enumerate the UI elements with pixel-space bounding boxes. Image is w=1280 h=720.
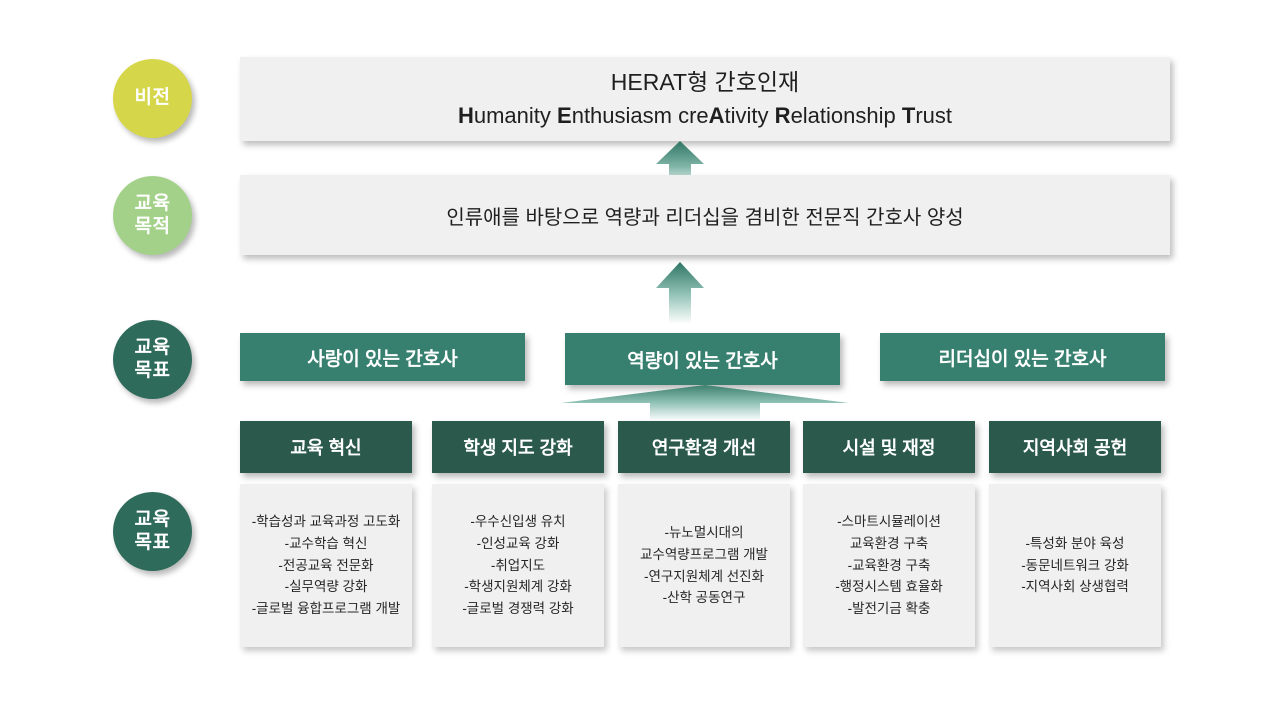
list-item: -지역사회 상생협력: [1021, 576, 1129, 598]
list-item: -글로벌 융합프로그램 개발: [252, 598, 401, 620]
strategy-column-education-innovation: 교육 혁신 -학습성과 교육과정 고도화 -교수학습 혁신 -전공교육 전문화 …: [240, 421, 412, 647]
stage-label-purpose-line2: 목적: [135, 216, 171, 238]
list-item: -뉴노멀시대의: [640, 522, 768, 544]
column-list-5: -특성화 분야 육성 -동문네트워크 강화 -지역사회 상생협력: [1021, 533, 1129, 599]
strategy-column-facility-finance: 시설 및 재정 -스마트시뮬레이션 교육환경 구축 -교육환경 구축 -행정시스…: [803, 421, 975, 647]
strategy-chevron-icon: [560, 385, 850, 421]
list-item: -동문네트워크 강화: [1021, 555, 1129, 577]
purpose-arrow-icon: [655, 262, 705, 324]
column-header-label-2: 학생 지도 강화: [463, 434, 572, 460]
list-item: -취업지도: [462, 555, 573, 577]
column-body-1: -학습성과 교육과정 고도화 -교수학습 혁신 -전공교육 전문화 -실무역량 …: [240, 484, 412, 647]
list-item: -학생지원체계 강화: [462, 576, 573, 598]
stage-circle-vision: 비전: [113, 59, 192, 138]
list-item: -학습성과 교육과정 고도화: [252, 511, 401, 533]
list-item: -연구지원체계 선진화: [640, 566, 768, 588]
stage-label-strategy-line1: 교육: [135, 509, 171, 531]
column-header-label-5: 지역사회 공헌: [1023, 434, 1127, 460]
column-list-4: -스마트시뮬레이션 교육환경 구축 -교육환경 구축 -행정시스템 효율화 -발…: [835, 511, 943, 620]
column-body-4: -스마트시뮬레이션 교육환경 구축 -교육환경 구축 -행정시스템 효율화 -발…: [803, 484, 975, 647]
column-header-label-3: 연구환경 개선: [652, 434, 756, 460]
list-item: 교수역량프로그램 개발: [640, 544, 768, 566]
list-item: -발전기금 확충: [835, 598, 943, 620]
goal-label-leadership: 리더십이 있는 간호사: [939, 344, 1107, 371]
stage-label-goal-line2: 목표: [135, 360, 171, 382]
list-item: -실무역량 강화: [252, 576, 401, 598]
stage-label-purpose-line1: 교육: [135, 193, 171, 215]
strategy-column-student-guidance: 학생 지도 강화 -우수신입생 유치 -인성교육 강화 -취업지도 -학생지원체…: [432, 421, 604, 647]
list-item: -우수신입생 유치: [462, 511, 573, 533]
stage-label-strategy-line2: 목표: [135, 532, 171, 554]
stage-circle-strategy: 교육 목표: [113, 492, 192, 571]
stage-circle-goal: 교육 목표: [113, 320, 192, 399]
stage-label-vision-line1: 비전: [135, 87, 171, 109]
goal-label-love: 사랑이 있는 간호사: [307, 344, 457, 371]
list-item: -행정시스템 효율화: [835, 576, 943, 598]
list-item: -인성교육 강화: [462, 533, 573, 555]
column-body-2: -우수신입생 유치 -인성교육 강화 -취업지도 -학생지원체계 강화 -글로벌…: [432, 484, 604, 647]
goal-box-love[interactable]: 사랑이 있는 간호사: [240, 333, 525, 381]
column-header-5[interactable]: 지역사회 공헌: [989, 421, 1161, 473]
column-header-label-4: 시설 및 재정: [843, 434, 936, 460]
column-body-3: -뉴노멀시대의 교수역량프로그램 개발 -연구지원체계 선진화 -산학 공동연구: [618, 484, 790, 647]
purpose-banner: 인류애를 바탕으로 역량과 리더십을 겸비한 전문직 간호사 양성: [240, 175, 1170, 255]
stage-label-goal-line1: 교육: [135, 337, 171, 359]
column-list-1: -학습성과 교육과정 고도화 -교수학습 혁신 -전공교육 전문화 -실무역량 …: [252, 511, 401, 620]
goal-box-competency[interactable]: 역량이 있는 간호사: [565, 333, 840, 385]
purpose-text: 인류애를 바탕으로 역량과 리더십을 겸비한 전문직 간호사 양성: [446, 201, 963, 230]
column-header-label-1: 교육 혁신: [290, 434, 361, 460]
list-item: -교수학습 혁신: [252, 533, 401, 555]
column-header-4[interactable]: 시설 및 재정: [803, 421, 975, 473]
list-item: -산학 공동연구: [640, 587, 768, 609]
goal-box-leadership[interactable]: 리더십이 있는 간호사: [880, 333, 1165, 381]
vision-title: HERAT형 간호인재: [458, 66, 952, 99]
column-list-2: -우수신입생 유치 -인성교육 강화 -취업지도 -학생지원체계 강화 -글로벌…: [462, 511, 573, 620]
column-header-2[interactable]: 학생 지도 강화: [432, 421, 604, 473]
vision-subtitle: Humanity Enthusiasm creAtivity Relations…: [458, 100, 952, 132]
goal-label-competency: 역량이 있는 간호사: [627, 346, 777, 373]
stage-circle-purpose: 교육 목적: [113, 176, 192, 255]
list-item: -특성화 분야 육성: [1021, 533, 1129, 555]
vision-banner: HERAT형 간호인재 Humanity Enthusiasm creAtivi…: [240, 57, 1170, 141]
strategy-column-research-environment: 연구환경 개선 -뉴노멀시대의 교수역량프로그램 개발 -연구지원체계 선진화 …: [618, 421, 790, 647]
list-item: -전공교육 전문화: [252, 555, 401, 577]
column-header-1[interactable]: 교육 혁신: [240, 421, 412, 473]
column-body-5: -특성화 분야 육성 -동문네트워크 강화 -지역사회 상생협력: [989, 484, 1161, 647]
diagram-canvas: 비전 교육 목적 교육 목표 교육 목표 HERAT형 간호인재 Humanit…: [0, 0, 1280, 720]
strategy-column-community-contribution: 지역사회 공헌 -특성화 분야 육성 -동문네트워크 강화 -지역사회 상생협력: [989, 421, 1161, 647]
column-list-3: -뉴노멀시대의 교수역량프로그램 개발 -연구지원체계 선진화 -산학 공동연구: [640, 522, 768, 609]
column-header-3[interactable]: 연구환경 개선: [618, 421, 790, 473]
list-item: -글로벌 경쟁력 강화: [462, 598, 573, 620]
list-item: 교육환경 구축: [835, 533, 943, 555]
list-item: -스마트시뮬레이션: [835, 511, 943, 533]
list-item: -교육환경 구축: [835, 555, 943, 577]
